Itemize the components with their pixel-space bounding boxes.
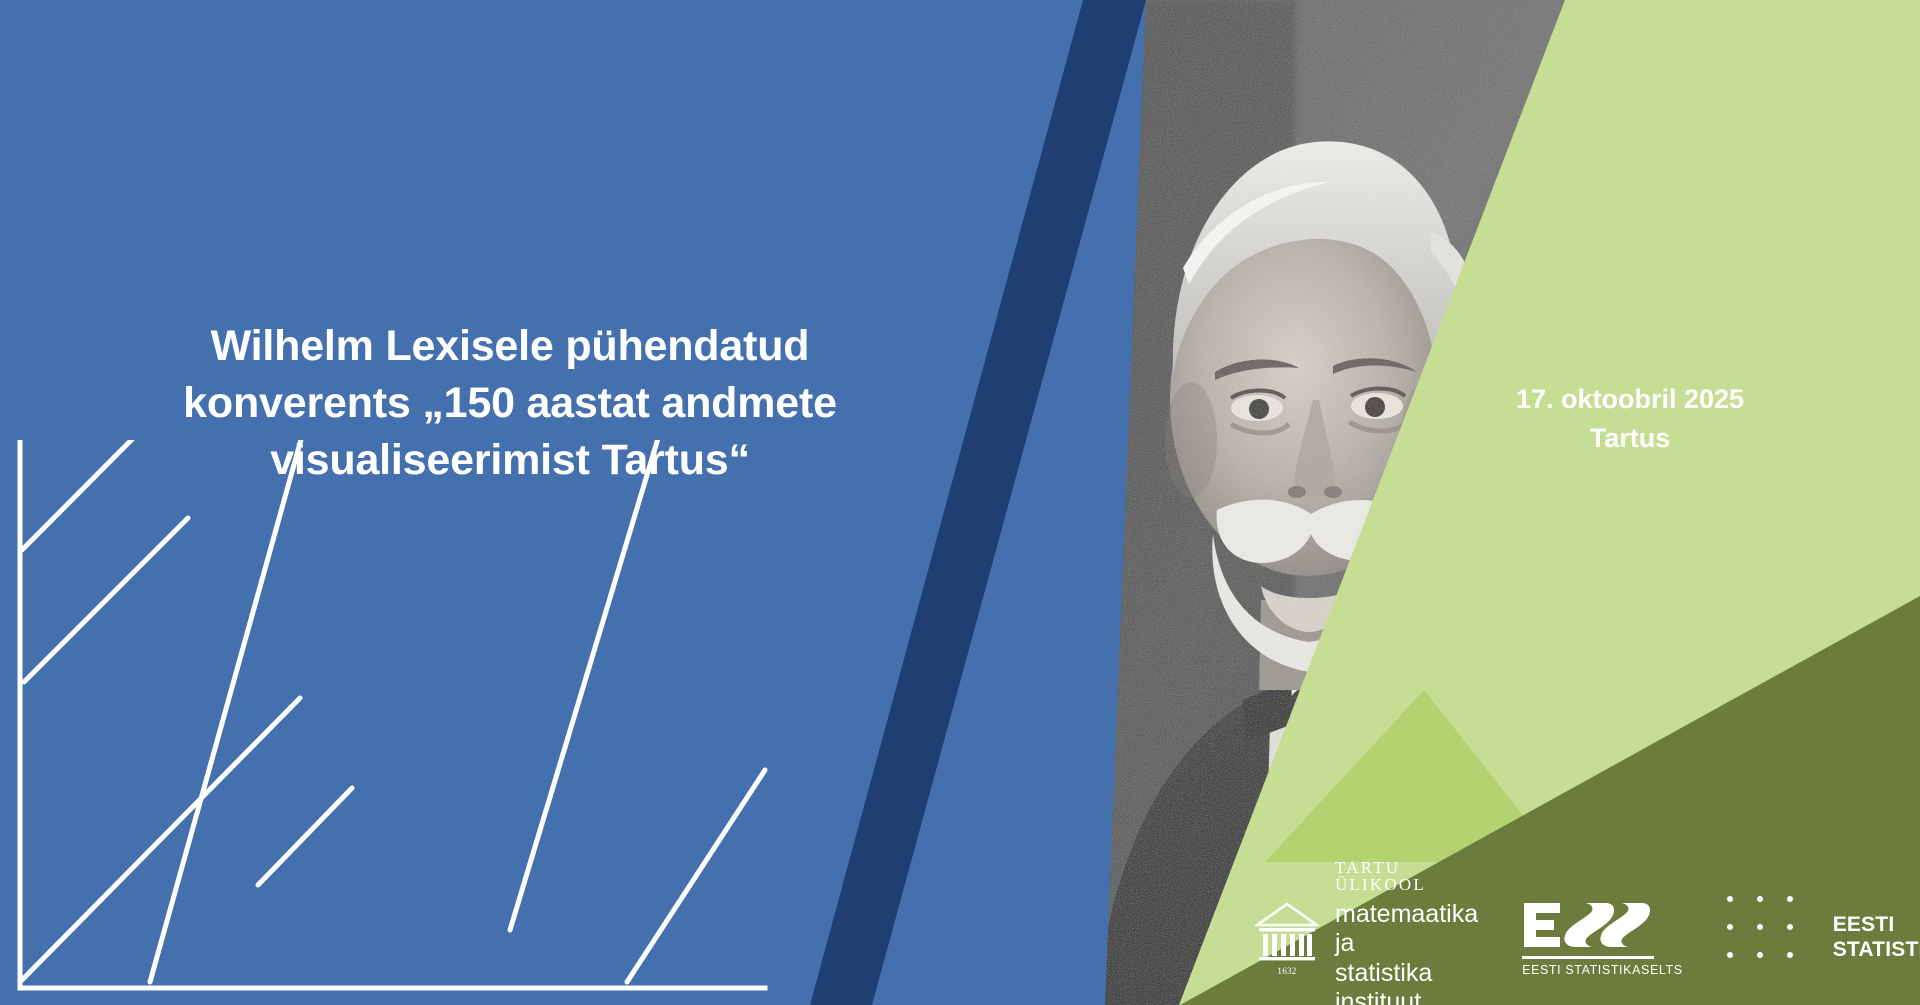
institute-line-1: matemaatika ja: [1335, 900, 1485, 959]
decoration-line-7: [627, 770, 765, 982]
decoration-line-2: [24, 518, 188, 682]
logo-statistics-estonia: EESTI STATISTIKA: [1727, 896, 1920, 980]
event-date: 17. oktoobril 2025: [1430, 380, 1830, 419]
title-line-3: visualiseerimist Tartus“: [120, 432, 900, 489]
title-line-1: Wilhelm Lexisele pühendatud: [120, 318, 900, 375]
institute-line-2: statistika instituut: [1335, 959, 1485, 1005]
title-line-2: konverents „150 aastat andmete: [120, 375, 900, 432]
decoration-line-6: [510, 440, 672, 930]
university-founding-year: 1632: [1255, 966, 1319, 976]
event-details: 17. oktoobril 2025 Tartus: [1430, 380, 1830, 458]
logo-row: 1632 TARTU ÜLIKOOL matemaatika ja statis…: [1255, 888, 1920, 988]
statistics-estonia-line-2: STATISTIKA: [1833, 938, 1920, 963]
ess-rule: [1522, 956, 1654, 959]
temple-icon: [1255, 901, 1319, 975]
decoration-line-5: [258, 788, 352, 885]
university-building-icon: 1632: [1255, 901, 1319, 975]
dot-grid-icon: [1727, 896, 1817, 980]
university-wordmark: TARTU ÜLIKOOL matemaatika ja statistika …: [1335, 859, 1485, 1005]
event-place: Tartus: [1430, 419, 1830, 458]
statistics-estonia-line-1: EESTI: [1833, 913, 1920, 938]
ess-subtitle: EESTI STATISTIKASELTS: [1522, 963, 1683, 977]
page-title: Wilhelm Lexisele pühendatud konverents „…: [120, 318, 900, 490]
university-name: TARTU ÜLIKOOL: [1335, 859, 1485, 893]
decoration-line-4: [150, 440, 302, 982]
chart-lines-decoration: [0, 440, 800, 1005]
ess-monogram-icon: [1522, 899, 1654, 951]
logo-estonian-statistical-society: EESTI STATISTIKASELTS: [1522, 899, 1683, 977]
conference-poster: Wilhelm Lexisele pühendatud konverents „…: [0, 0, 1920, 1005]
statistics-estonia-wordmark: EESTI STATISTIKA: [1833, 913, 1920, 963]
logo-university-of-tartu: 1632 TARTU ÜLIKOOL matemaatika ja statis…: [1255, 859, 1485, 1005]
